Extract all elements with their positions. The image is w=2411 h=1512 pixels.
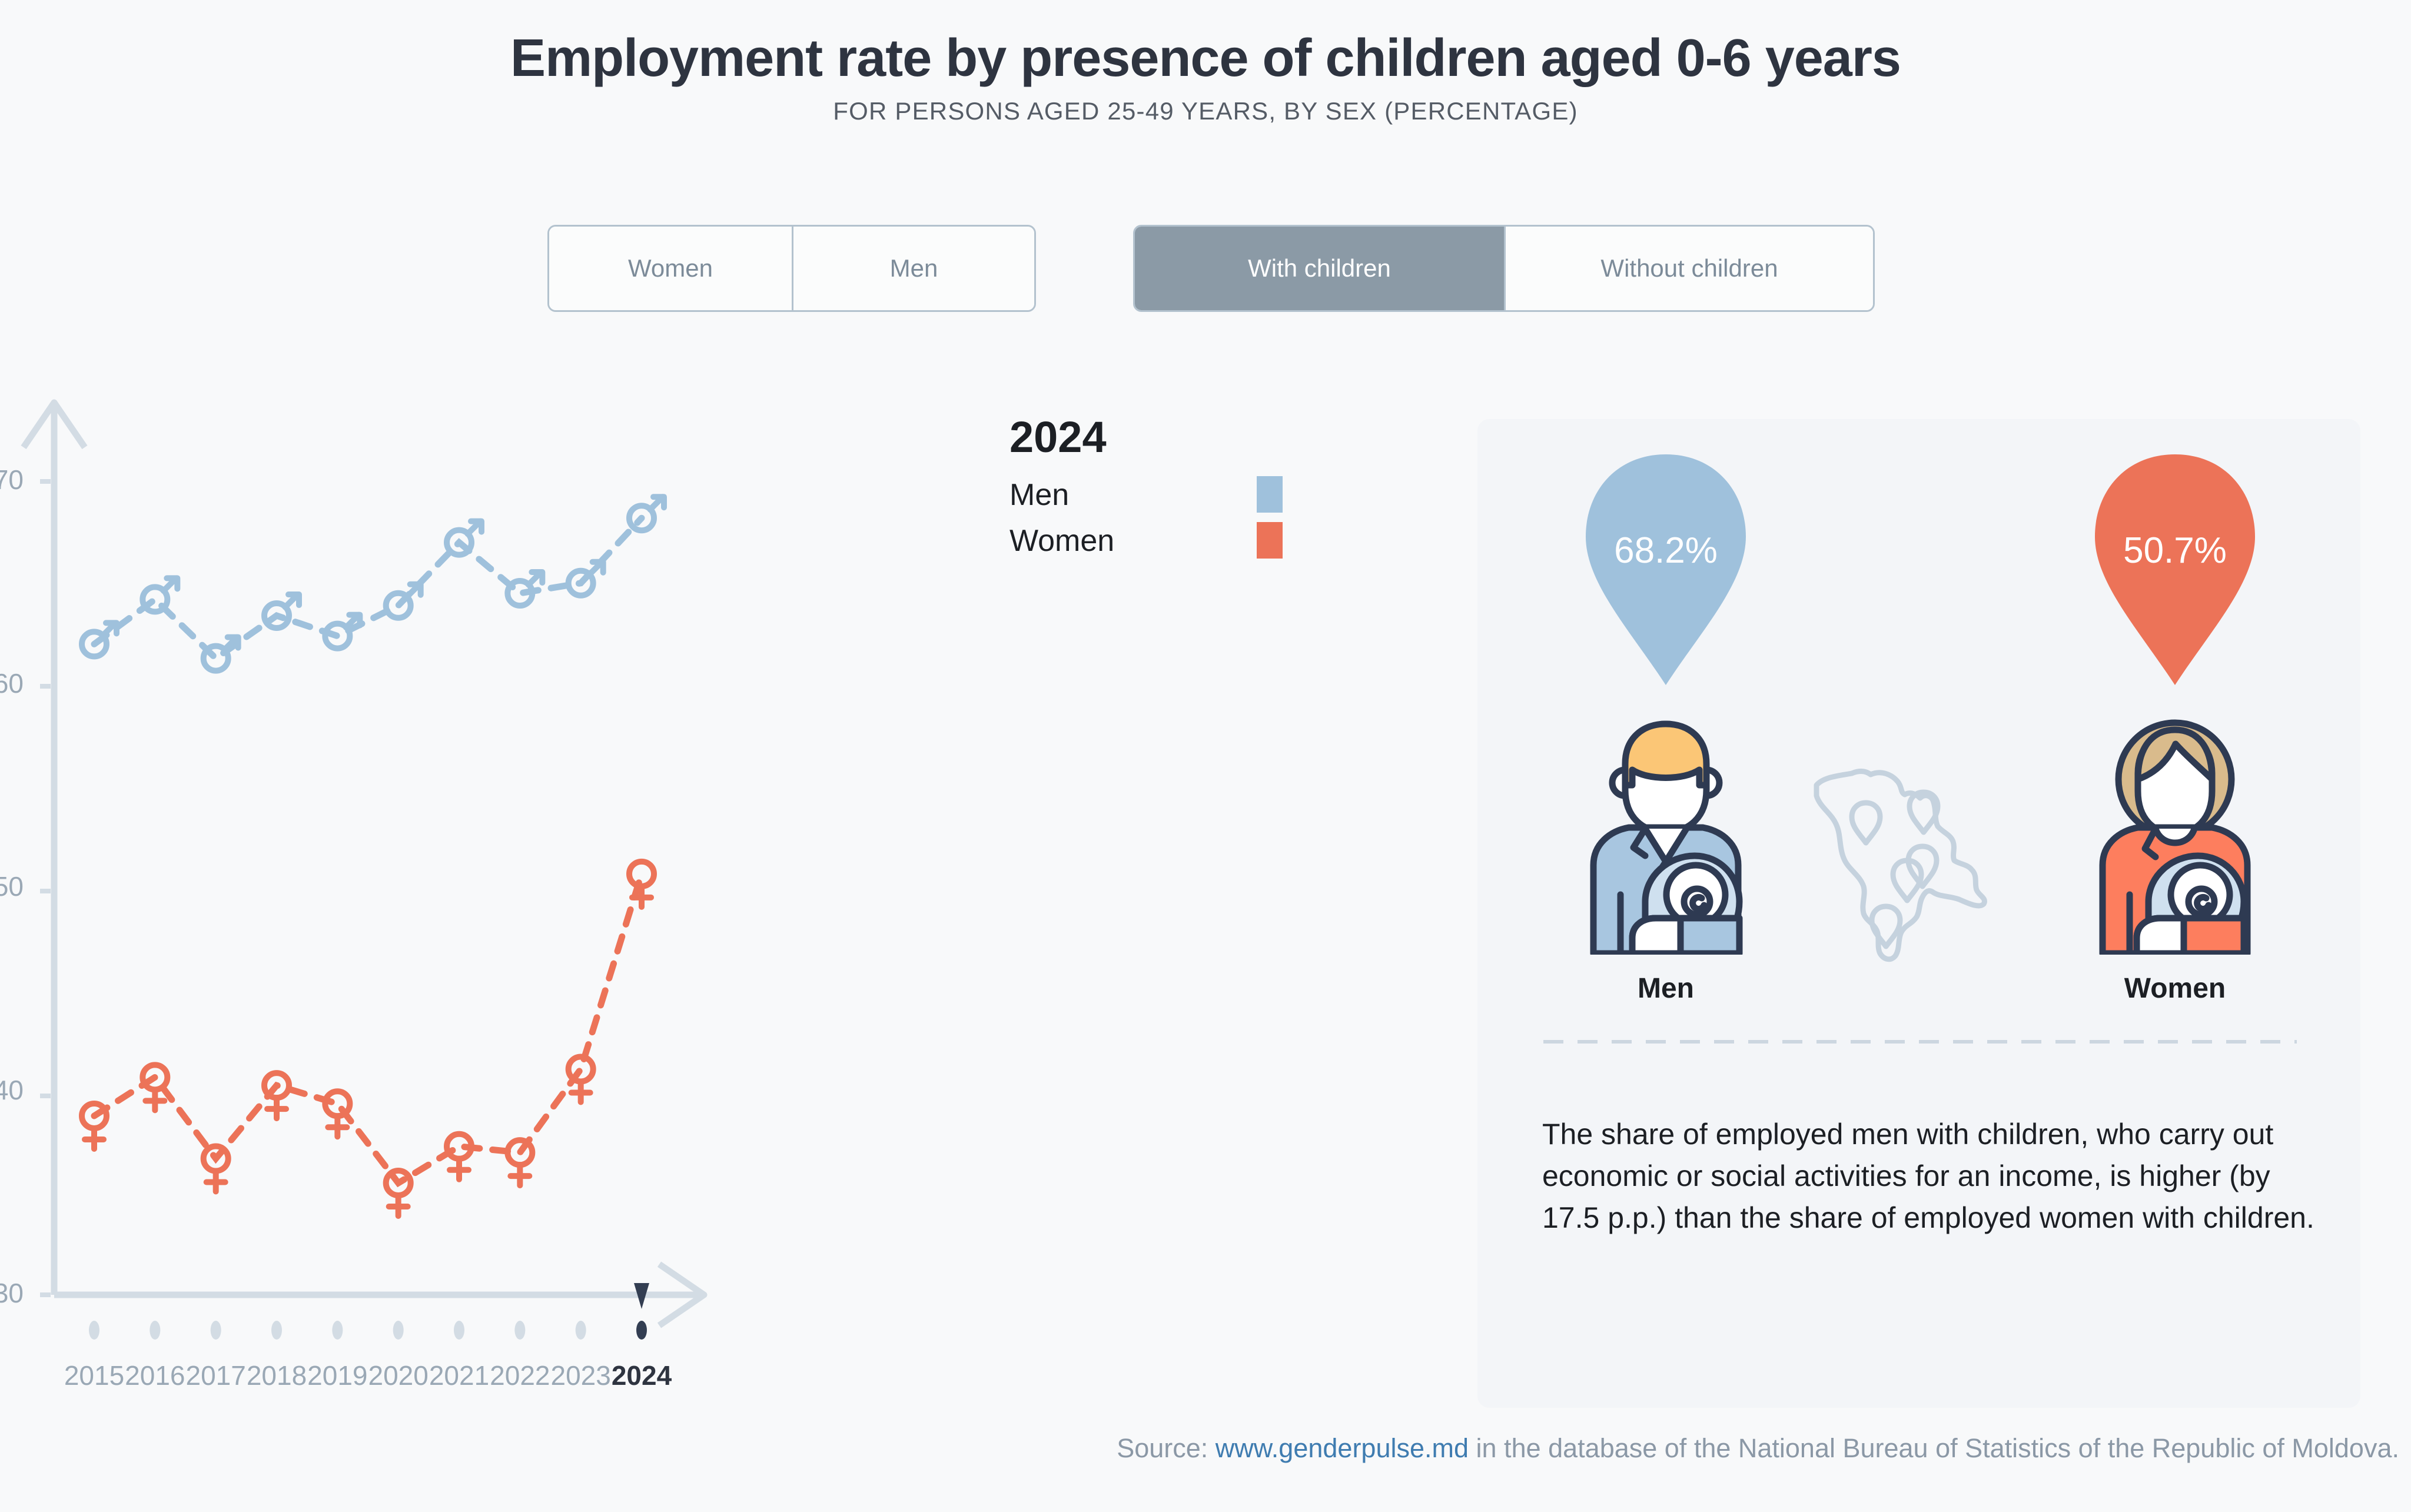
info-panel: 68.2% 50.7% [1477, 419, 2360, 1408]
man-with-baby-icon [1563, 707, 1769, 955]
data-point-women-2019[interactable] [325, 1091, 350, 1137]
woman-with-baby-icon [2072, 707, 2278, 955]
panel-description: The share of employed men with children,… [1542, 1114, 2331, 1239]
x-axis [54, 1264, 704, 1325]
pin-women-value: 50.7% [2087, 530, 2263, 571]
series-line-women [94, 874, 642, 1183]
source-suffix: in the database of the National Bureau o… [1469, 1433, 2399, 1463]
panel-divider [1543, 1040, 2297, 1044]
x-tick-dot [211, 1321, 221, 1340]
x-tick-dot [576, 1321, 586, 1340]
data-point-women-2022[interactable] [507, 1140, 532, 1185]
toggle-women[interactable]: Women [549, 227, 792, 310]
toggle-without-children[interactable]: Without children [1504, 227, 1873, 310]
data-point-women-2016[interactable] [142, 1065, 167, 1110]
series-layer [82, 497, 664, 1216]
x-tick-dot [150, 1321, 160, 1340]
x-tick-dot [271, 1321, 282, 1340]
pin-men: 68.2% [1578, 454, 1754, 687]
data-point-women-2024[interactable] [629, 862, 654, 907]
legend-year: 2024 [1009, 412, 1339, 462]
chart-legend: 2024 Men Women [1009, 412, 1339, 567]
infographic-page: Employment rate by presence of children … [0, 0, 2411, 1512]
page-subtitle: FOR PERSONS AGED 25-49 YEARS, BY SEX (PE… [0, 97, 2411, 125]
page-title: Employment rate by presence of children … [0, 28, 2411, 89]
legend-label-men: Men [1009, 477, 1069, 513]
x-tick-dots [89, 1321, 647, 1340]
y-tick-label: 40 [0, 1074, 24, 1106]
y-tick-label: 60 [0, 667, 24, 699]
data-point-women-2020[interactable] [386, 1171, 411, 1216]
y-axis [24, 403, 85, 1295]
y-tick-marks [40, 481, 51, 1295]
y-tick-label: 70 [0, 464, 24, 496]
legend-swatch-men [1257, 476, 1283, 513]
legend-swatch-women [1257, 522, 1283, 559]
data-point-women-2015[interactable] [82, 1104, 107, 1149]
data-point-men-2024[interactable] [629, 497, 664, 530]
y-tick-label: 50 [0, 870, 24, 902]
x-tick-dot [454, 1321, 464, 1340]
sex-toggle-group: Women Men [547, 225, 1036, 312]
data-point-women-2023[interactable] [569, 1056, 593, 1102]
children-toggle-group: With children Without children [1133, 225, 1875, 312]
x-tick-dot [393, 1321, 404, 1340]
data-point-women-2017[interactable] [204, 1147, 228, 1192]
moldova-map-icon [1807, 749, 1995, 966]
source-link[interactable]: www.genderpulse.md [1216, 1433, 1469, 1463]
pin-women: 50.7% [2087, 454, 2263, 687]
legend-row-women: Women [1009, 521, 1339, 567]
toggle-with-children[interactable]: With children [1135, 227, 1504, 310]
data-point-women-2021[interactable] [447, 1134, 471, 1179]
legend-row-men: Men [1009, 475, 1339, 521]
source-prefix: Source: [1117, 1433, 1216, 1463]
x-tick-label-current[interactable]: 2024 [592, 1360, 692, 1391]
caption-men: Men [1563, 972, 1769, 1005]
pin-men-value: 68.2% [1578, 530, 1754, 571]
source-line: Source: www.genderpulse.md in the databa… [0, 1433, 2399, 1464]
data-point-women-2018[interactable] [264, 1073, 289, 1118]
y-tick-label: 30 [0, 1277, 24, 1309]
x-tick-dot [514, 1321, 525, 1340]
toggle-men[interactable]: Men [792, 227, 1034, 310]
x-tick-dot [332, 1321, 343, 1340]
caption-women: Women [2072, 972, 2278, 1005]
legend-label-women: Women [1009, 523, 1114, 559]
x-tick-dot [89, 1321, 99, 1340]
x-tick-dot [636, 1321, 647, 1340]
